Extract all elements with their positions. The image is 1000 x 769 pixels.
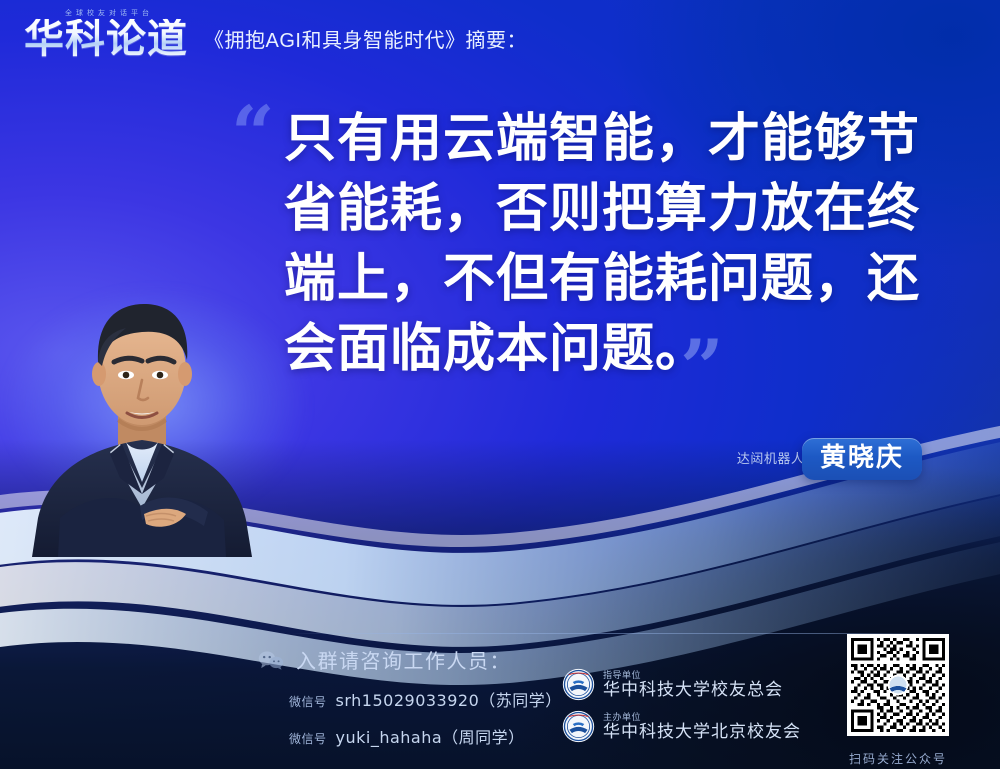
- quote-text: 只有用云端智能，才能够节 省能耗，否则把算力放在终 端上，不但有能耗问题，还 会…: [284, 104, 944, 384]
- quote-line: 只有用云端智能，才能够节: [284, 104, 944, 174]
- contact-row: 微信号 yuki_hahaha（周同学）: [258, 724, 562, 748]
- speaker-name-badge: 黄晓庆: [802, 438, 922, 480]
- contact-value[interactable]: srh15029033920（苏同学）: [336, 687, 562, 711]
- footer-title: 入群请咨询工作人员：: [296, 645, 511, 674]
- speaker-portrait: [22, 282, 262, 557]
- brand-tagline: 全球校友对话平台: [30, 8, 188, 18]
- quote-open-mark: “: [231, 96, 275, 172]
- brand-logo[interactable]: 全球校友对话平台 华科论道: [24, 8, 188, 59]
- hust-seal-icon: [562, 668, 595, 701]
- organization-name: 华中科技大学北京校友会: [603, 722, 801, 741]
- poster-canvas: 全球校友对话平台 华科论道 《拥抱AGI和具身智能时代》摘要： “ 只有用云端智…: [0, 0, 1000, 769]
- quote-line: 省能耗，否则把算力放在终: [284, 174, 944, 244]
- organization-row: 主办单位 华中科技大学北京校友会: [562, 710, 801, 743]
- quote-line: 端上，不但有能耗问题，还: [284, 244, 944, 314]
- organization-kicker: 指导单位: [603, 670, 783, 680]
- contact-label: 微信号: [289, 693, 327, 710]
- wechat-icon: [258, 650, 284, 670]
- page-title: 《拥抱AGI和具身智能时代》摘要：: [204, 24, 527, 59]
- hust-seal-icon: [562, 710, 595, 743]
- organization-name: 华中科技大学校友总会: [603, 680, 783, 699]
- header: 全球校友对话平台 华科论道 《拥抱AGI和具身智能时代》摘要：: [24, 8, 527, 59]
- qr-code-icon[interactable]: [847, 634, 949, 736]
- contact-row: 微信号 srh15029033920（苏同学）: [258, 687, 562, 711]
- qr-block: 扫码关注公众号: [838, 634, 958, 767]
- organization-row: 指导单位 华中科技大学校友总会: [562, 668, 801, 701]
- contact-label: 微信号: [289, 730, 327, 747]
- organizations-block: 指导单位 华中科技大学校友总会 主办单位 华中科技大学北京校友会: [562, 668, 801, 752]
- quote-line: 会面临成本问题。: [284, 314, 944, 384]
- contact-value[interactable]: yuki_hahaha（周同学）: [336, 724, 525, 748]
- brand-name: 华科论道: [24, 19, 188, 59]
- footer-contact-block: 入群请咨询工作人员： 微信号 srh15029033920（苏同学） 微信号 y…: [258, 645, 562, 748]
- qr-caption: 扫码关注公众号: [838, 750, 958, 767]
- organization-kicker: 主办单位: [603, 712, 801, 722]
